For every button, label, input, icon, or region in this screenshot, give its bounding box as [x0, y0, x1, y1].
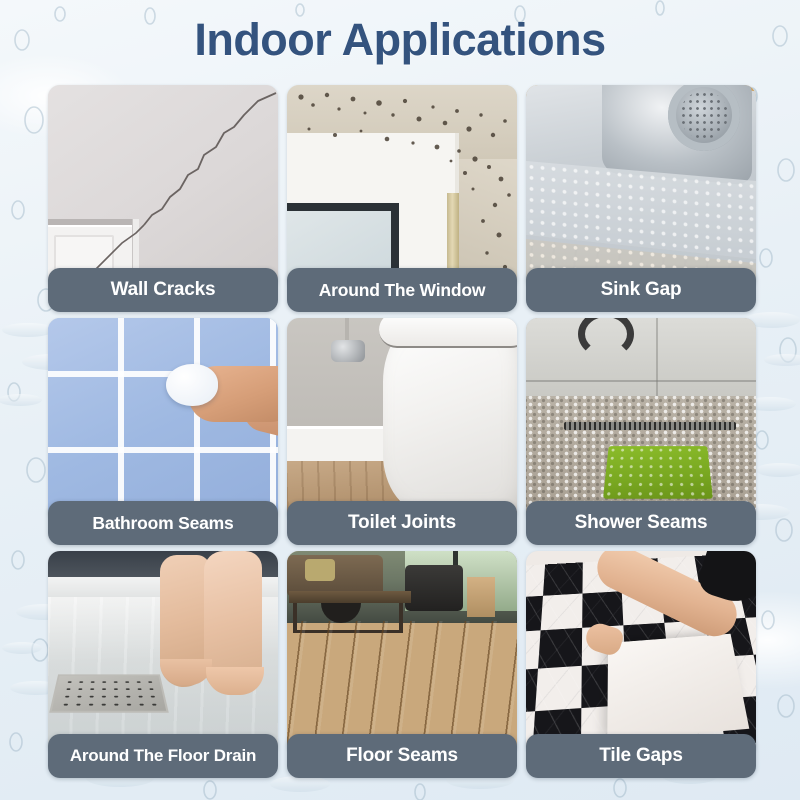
- around-the-window-photo: [287, 85, 517, 290]
- shower-seams-photo: [526, 318, 756, 523]
- card-label: Floor Seams: [287, 734, 517, 778]
- application-card[interactable]: Tile Gaps: [526, 551, 756, 783]
- around-the-floor-drain-photo: [48, 551, 278, 756]
- bathroom-seams-photo: [48, 318, 278, 523]
- application-card[interactable]: Floor Seams: [287, 551, 517, 783]
- card-label: Sink Gap: [526, 268, 756, 312]
- application-card[interactable]: Wall Cracks: [48, 85, 278, 317]
- application-card[interactable]: Bathroom Seams: [48, 318, 278, 550]
- mold-speckles-icon: [287, 85, 517, 290]
- application-card[interactable]: Shower Seams: [526, 318, 756, 550]
- card-label: Shower Seams: [526, 501, 756, 545]
- application-card[interactable]: Around The Window: [287, 85, 517, 317]
- card-label: Wall Cracks: [48, 268, 278, 312]
- card-label: Tile Gaps: [526, 734, 756, 778]
- floor-seams-photo: [287, 551, 517, 756]
- toilet-joints-photo: [287, 318, 517, 523]
- card-label: Bathroom Seams: [48, 501, 278, 545]
- sink-gap-photo: [526, 85, 756, 290]
- tile-gaps-photo: [526, 551, 756, 756]
- wall-cracks-photo: [48, 85, 278, 290]
- card-label: Toilet Joints: [287, 501, 517, 545]
- page-title: Indoor Applications: [0, 14, 800, 66]
- application-card[interactable]: Around The Floor Drain: [48, 551, 278, 783]
- card-label: Around The Window: [287, 268, 517, 312]
- application-card[interactable]: Toilet Joints: [287, 318, 517, 550]
- card-label: Around The Floor Drain: [48, 734, 278, 778]
- application-card[interactable]: Sink Gap: [526, 85, 756, 317]
- applications-grid: Wall Cracks: [48, 85, 756, 783]
- poster-page: Indoor Applications Wall Cracks: [0, 0, 800, 800]
